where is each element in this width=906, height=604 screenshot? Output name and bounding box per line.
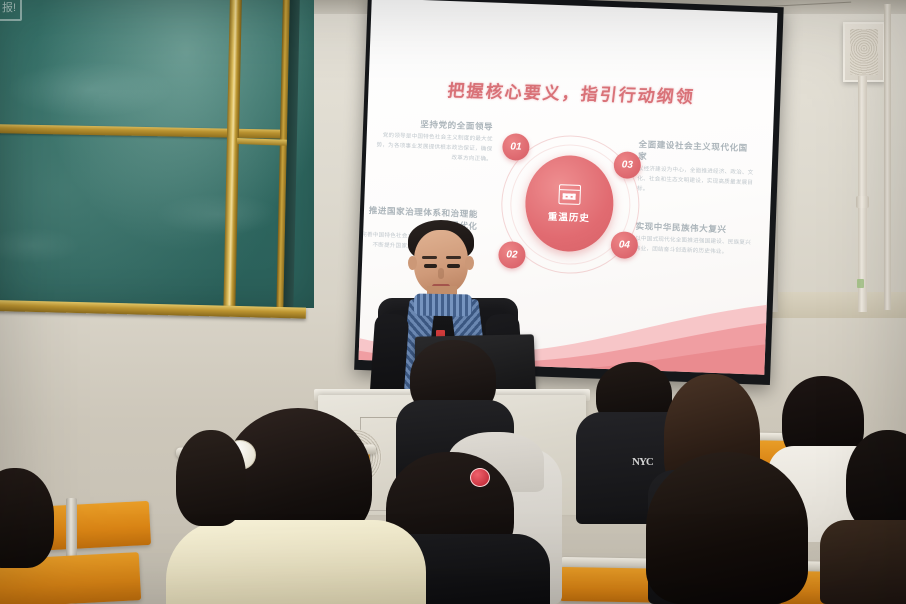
calendar-icon: [558, 184, 581, 205]
slide-block-04-body: 以中国式现代化全面推进强国建设、民族复兴伟业，团结奋斗创造新的历史伟业。: [635, 235, 754, 259]
orbit-node-03: 03: [613, 151, 641, 179]
presenter-brow-left: [422, 256, 437, 259]
slide-block-03-heading: 全面建设社会主义现代化国家: [638, 138, 757, 166]
cable-conduit: [858, 76, 867, 312]
presenter-nose: [438, 268, 444, 279]
red-hair-tie: [470, 468, 490, 487]
wall-socket: [857, 279, 864, 288]
hoodie-print-label: NYC: [632, 456, 653, 468]
slide-block-04: 实现中华民族伟大复兴 以中国式现代化全面推进强国建设、民族复兴伟业，团结奋斗创造…: [635, 220, 754, 259]
wall-speaker: [843, 22, 885, 82]
student-body: [820, 520, 906, 604]
slide-block-03: 全面建设社会主义现代化国家 以经济建设为中心，全面推进经济、政治、文化、社会和生…: [637, 138, 757, 199]
presenter-collar: [414, 293, 472, 316]
slide-block-01-heading: 坚持党的全面领导: [375, 116, 493, 132]
presenter-brow-right: [446, 256, 461, 259]
conduit-joint: [856, 196, 869, 208]
slide-title: 把握核心要义，指引行动纲领: [367, 74, 776, 110]
orbit-core-label: 重温历史: [548, 208, 591, 224]
student-sweater: [166, 520, 426, 604]
presenter-eye-right: [447, 264, 460, 268]
classroom-scene: 报! 把握核心要义，指引行动纲领 坚持党的全面领导 党的领导是中国特色社会主义制…: [0, 0, 906, 604]
slide-block-04-heading: 实现中华民族伟大复兴: [635, 220, 753, 236]
student-hair: [176, 430, 246, 526]
student-hair-braided: [646, 452, 808, 604]
cable-conduit-secondary: [884, 4, 891, 310]
slide-block-01-body: 党的领导是中国特色社会主义制度的最大优势，为各项事业发展提供根本政治保证，确保改…: [374, 131, 493, 165]
orbit-node-04: 04: [610, 231, 638, 259]
chalk-smudges: [0, 0, 314, 308]
chalk-mark: 报!: [0, 0, 22, 21]
slide-block-01: 坚持党的全面领导 党的领导是中国特色社会主义制度的最大优势，为各项事业发展提供根…: [374, 116, 494, 165]
chalkboard: 报!: [0, 0, 314, 308]
slide-block-03-body: 以经济建设为中心，全面推进经济、政治、文化、社会和生态文明建设，实现高质量发展目…: [637, 165, 756, 199]
speaker-grille-icon: [850, 29, 878, 75]
presenter-eye-left: [424, 264, 437, 268]
presenter-ear-right: [465, 256, 474, 270]
presenter-ear-left: [408, 256, 417, 270]
